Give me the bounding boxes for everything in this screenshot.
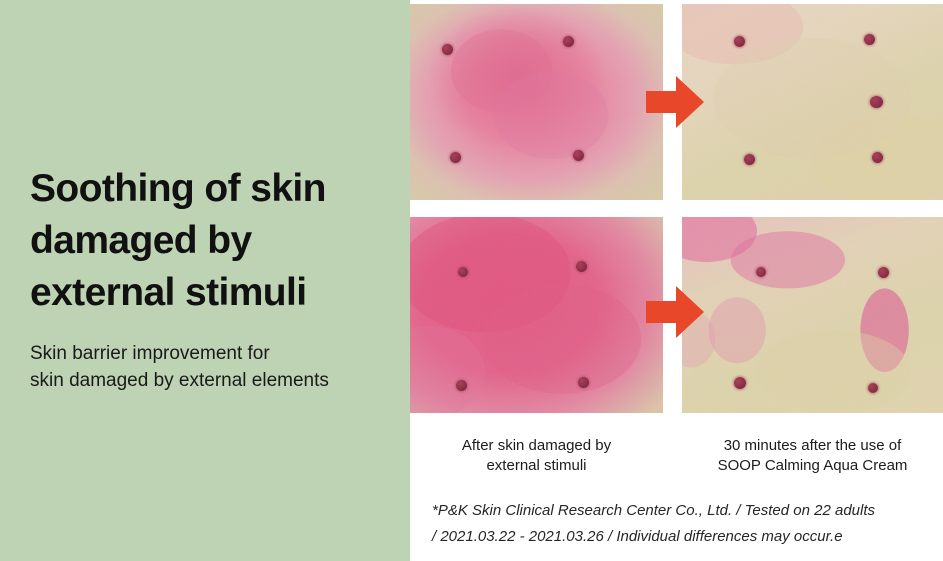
disclaimer-text: *P&K Skin Clinical Research Center Co., … <box>432 498 942 550</box>
marker-dot <box>576 261 587 272</box>
marker-dot <box>872 152 883 163</box>
product-claim-banner: Soothing of skin damaged by external sti… <box>0 0 943 561</box>
caption-before: After skin damaged by external stimuli <box>410 436 663 476</box>
arrow-right-icon-shape <box>646 76 704 128</box>
marker-dot <box>864 34 875 45</box>
arrow-right-icon <box>646 76 704 128</box>
before-after-photo-grid: After skin damaged by external stimuli 3… <box>410 0 943 561</box>
marker-dot <box>744 154 755 165</box>
arrow-right-icon-shape <box>646 286 704 338</box>
subtitle: Skin barrier improvement for skin damage… <box>30 340 405 394</box>
arrow-right-icon <box>646 286 704 338</box>
marker-dot <box>442 44 453 55</box>
marker-dot <box>458 267 468 277</box>
photo-after-top <box>682 4 943 200</box>
photo-before-bottom <box>410 217 663 413</box>
marker-dot <box>756 267 766 277</box>
left-text-panel: Soothing of skin damaged by external sti… <box>0 0 410 561</box>
marker-dot <box>563 36 574 47</box>
marker-dot <box>578 377 589 388</box>
skin-image-after-top <box>682 4 943 200</box>
skin-image-after-bottom <box>682 217 943 413</box>
marker-dot <box>878 267 889 278</box>
photo-after-bottom <box>682 217 943 413</box>
marker-dot <box>868 383 878 393</box>
photo-before-top <box>410 4 663 200</box>
marker-dot <box>450 152 461 163</box>
marker-dot <box>456 380 467 391</box>
skin-image-before-top <box>410 4 663 200</box>
marker-dot <box>734 36 745 47</box>
marker-dot <box>573 150 584 161</box>
skin-image-before-bottom <box>410 217 663 413</box>
marker-dot <box>734 377 746 389</box>
page-title: Soothing of skin damaged by external sti… <box>30 163 400 319</box>
caption-after: 30 minutes after the use of SOOP Calming… <box>682 436 943 476</box>
marker-dot <box>870 96 883 108</box>
